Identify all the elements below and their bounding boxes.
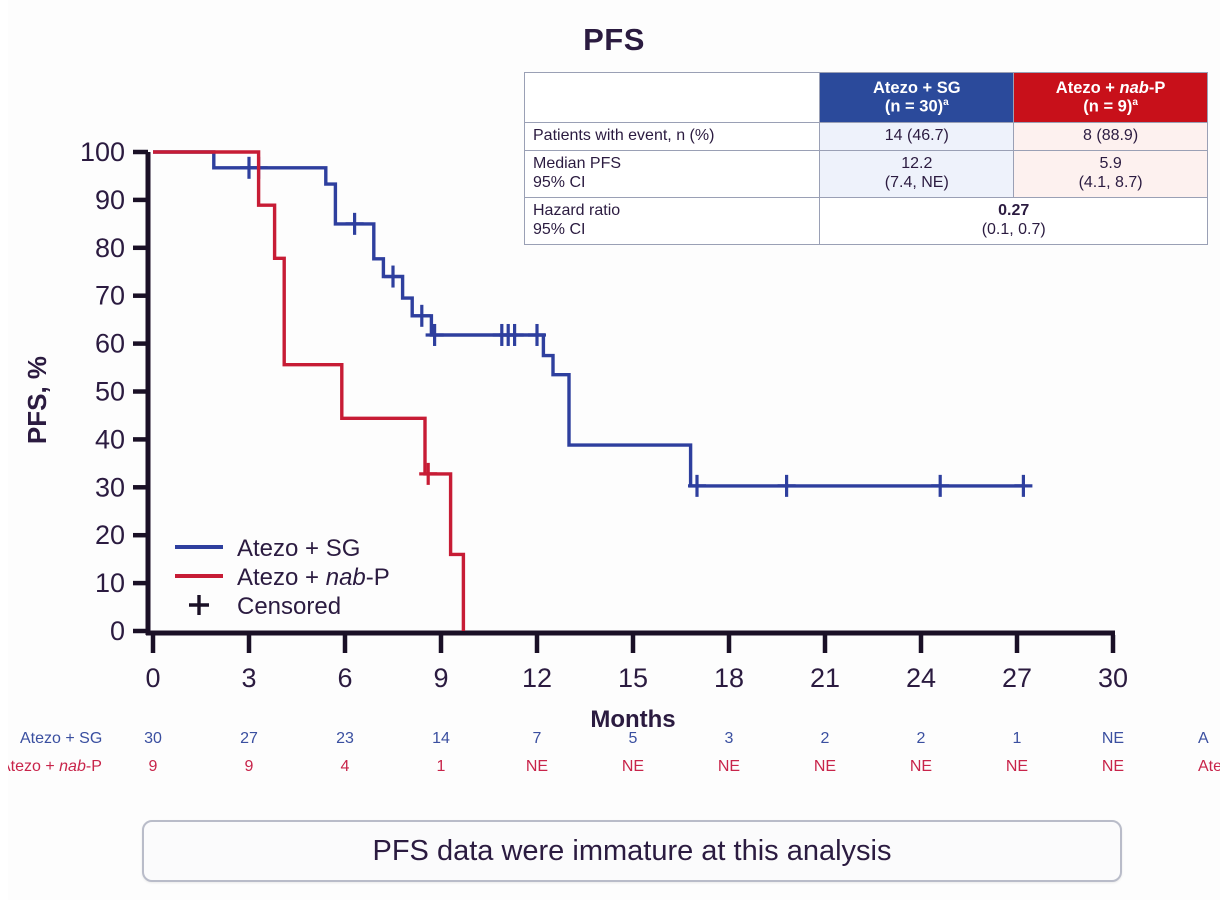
number-at-risk-table: Atezo + SG30272314753221NEAAtezo + nab-P…	[0, 730, 1228, 790]
risk-table-value: NE	[517, 758, 557, 776]
risk-table-value: NE	[901, 758, 941, 776]
risk-table-value: NE	[805, 758, 845, 776]
left-edge-mask	[0, 0, 8, 900]
censor-mark	[419, 463, 437, 485]
legend-label: Censored	[237, 593, 341, 620]
risk-table-row: Atezo + SG30272314753221NEA	[0, 730, 1228, 756]
x-axis-tick-label: 24	[906, 663, 936, 693]
x-axis-tick-label: 30	[1098, 663, 1128, 693]
conclusion-banner-text: PFS data were immature at this analysis	[373, 835, 892, 868]
risk-table-value: 4	[325, 758, 365, 776]
kaplan-meier-plot: 0102030405060708090100PFS, %036912151821…	[0, 0, 1228, 740]
censor-mark	[778, 475, 796, 497]
x-axis-tick-label: 6	[337, 663, 352, 693]
x-axis-tick-label: 0	[145, 663, 160, 693]
y-axis-tick-label: 10	[95, 568, 125, 598]
x-axis-title: Months	[590, 706, 675, 733]
risk-table-value: 30	[133, 730, 173, 748]
y-axis-tick-label: 90	[95, 185, 125, 215]
risk-table-value: 5	[613, 730, 653, 748]
y-axis-tick-label: 60	[95, 329, 125, 359]
y-axis-tick-label: 50	[95, 377, 125, 407]
risk-table-row-label: Atezo + SG	[20, 730, 102, 748]
risk-table-row-label: Atezo + nab-P	[0, 758, 102, 776]
y-axis-tick-label: 40	[95, 424, 125, 454]
risk-table-row: Atezo + nab-P9941NENENENENENENEAtez	[0, 758, 1228, 784]
censor-mark	[426, 324, 444, 346]
conclusion-banner: PFS data were immature at this analysis	[142, 820, 1122, 882]
legend-label-nab-italic: nab	[326, 564, 366, 591]
risk-table-value: 27	[229, 730, 269, 748]
risk-table-value: NE	[1093, 758, 1133, 776]
x-axis-tick-label: 18	[714, 663, 744, 693]
risk-table-value: 1	[421, 758, 461, 776]
legend-label: Atezo + nab-P	[237, 564, 390, 591]
y-axis-tick-label: 80	[95, 233, 125, 263]
risk-table-value: 9	[133, 758, 173, 776]
censor-mark	[384, 266, 402, 288]
risk-table-value: 9	[229, 758, 269, 776]
y-axis-tick-label: 100	[80, 137, 125, 167]
risk-table-value: NE	[613, 758, 653, 776]
risk-table-value: 2	[901, 730, 941, 748]
risk-table-value: NE	[997, 758, 1037, 776]
x-axis-tick-label: 15	[618, 663, 648, 693]
y-axis-tick-label: 30	[95, 472, 125, 502]
risk-table-value: 14	[421, 730, 461, 748]
risk-table-value: 23	[325, 730, 365, 748]
censor-mark	[413, 305, 431, 327]
censor-mark	[346, 213, 364, 235]
x-axis-tick-label: 27	[1002, 663, 1032, 693]
legend-label: Atezo + SG	[237, 535, 360, 562]
y-axis-tick-label: 70	[95, 281, 125, 311]
y-axis-title: PFS, %	[22, 356, 52, 444]
x-axis-tick-label: 12	[522, 663, 552, 693]
x-axis-tick-label: 9	[433, 663, 448, 693]
risk-table-value: 7	[517, 730, 557, 748]
risk-table-value: NE	[1093, 730, 1133, 748]
censor-mark	[931, 475, 949, 497]
risk-table-value: 3	[709, 730, 749, 748]
x-axis-tick-label: 21	[810, 663, 840, 693]
censor-mark	[1014, 475, 1032, 497]
right-edge-mask	[1220, 0, 1228, 900]
risk-table-value: NE	[709, 758, 749, 776]
slide-canvas: PFS Atezo + SG (n = 30)a Atezo + nab-P (…	[0, 0, 1228, 900]
risk-table-value: 2	[805, 730, 845, 748]
risk-table-value: 1	[997, 730, 1037, 748]
y-axis-tick-label: 0	[110, 616, 125, 646]
y-axis-tick-label: 20	[95, 520, 125, 550]
x-axis-tick-label: 3	[241, 663, 256, 693]
